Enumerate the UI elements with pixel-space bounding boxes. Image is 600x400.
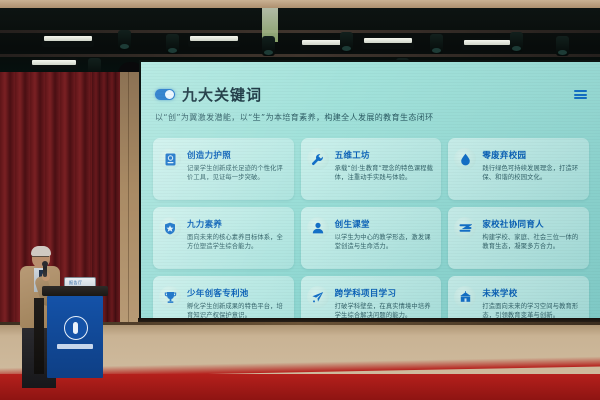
stage-light	[462, 38, 512, 50]
keyword-card[interactable]: 创造力护照 记录学生创新成长足迹的个性化评价工具，见证每一步突破。	[153, 138, 294, 200]
card-heading: 创生课堂	[335, 220, 370, 230]
podium: 报告厅	[42, 286, 108, 378]
card-description: 面向未来的核心素养目标体系，全方位塑造学生综合能力。	[187, 234, 287, 252]
university-emblem	[64, 316, 88, 340]
card-description: 践行绿色可持续发展理念，打造环保、和谐的校园文化。	[482, 165, 582, 183]
stage-light	[42, 34, 94, 47]
user-person-icon	[307, 217, 329, 239]
keyword-card[interactable]: 未来学校 打造面向未来的学习空间与教育形态，引领教育变革与创新。	[448, 276, 589, 320]
spotlight	[430, 34, 443, 54]
keyword-card[interactable]: 五维工坊 承载“创·生教育”理念的特色课程载体，注重动手实践与体验。	[301, 138, 442, 200]
card-heading: 少年创客专利池	[187, 289, 249, 299]
slide-subtitle: 以“创”为翼激发潜能，以“生”为本培育素养，构建全人发展的教育生态闭环	[155, 112, 586, 123]
card-description: 记录学生创新成长足迹的个性化评价工具，见证每一步突破。	[187, 165, 287, 183]
hamburger-menu-icon[interactable]	[574, 90, 587, 99]
spotlight	[510, 32, 523, 52]
keyword-card[interactable]: 创生课堂 以学生为中心的教学形态，激发课堂创造与生命活力。	[301, 207, 442, 269]
keyword-card[interactable]: 跨学科项目学习 打破学科壁垒，在真实情境中培养学生综合解决问题的能力。	[301, 276, 442, 320]
connection-link-icon	[454, 217, 476, 239]
stage-light	[188, 34, 240, 47]
shield-star-icon	[159, 217, 181, 239]
slide-header: 九大关键词 以“创”为翼激发潜能，以“生”为本培育素养，构建全人发展的教育生态闭…	[155, 84, 586, 123]
presenter-hair	[31, 246, 51, 256]
rocket-paperplane-icon	[307, 286, 329, 308]
truss-bar	[0, 54, 600, 57]
spotlight	[118, 30, 131, 50]
keyword-card[interactable]: 少年创客专利池 孵化学生创新成果的特色平台，培育知识产权保护意识。	[153, 276, 294, 320]
ceiling-band	[0, 0, 600, 8]
led-screen: 九大关键词 以“创”为翼激发潜能，以“生”为本培育素养，构建全人发展的教育生态闭…	[141, 62, 600, 320]
card-heading: 五维工坊	[335, 151, 370, 161]
podium-side	[34, 298, 44, 374]
card-heading: 九力素养	[187, 220, 222, 230]
card-description: 承载“创·生教育”理念的特色课程载体，注重动手实践与体验。	[335, 165, 435, 183]
podium-banner	[47, 296, 103, 378]
page-title: 九大关键词	[182, 84, 262, 105]
keyword-card[interactable]: 零废弃校园 践行绿色可持续发展理念，打造环保、和谐的校园文化。	[448, 138, 589, 200]
university-name-plate	[57, 344, 93, 349]
card-heading: 零废弃校园	[482, 151, 526, 161]
keyword-card[interactable]: 家校社协同育人 构建学校、家庭、社会三位一体的教育生态，凝聚多方合力。	[448, 207, 589, 269]
auditorium-photo: 九大关键词 以“创”为翼激发潜能，以“生”为本培育素养，构建全人发展的教育生态闭…	[0, 0, 600, 400]
spotlight	[262, 36, 275, 56]
water-drop-icon	[454, 148, 476, 170]
keyword-card-grid: 创造力护照 记录学生创新成长足迹的个性化评价工具，见证每一步突破。 五维工坊 承…	[153, 138, 589, 320]
microphone-icon	[43, 264, 47, 277]
wrench-tool-icon	[307, 148, 329, 170]
stage-light	[30, 58, 78, 69]
podium-top	[42, 286, 108, 296]
school-building-icon	[454, 286, 476, 308]
stage-light	[362, 36, 414, 49]
card-heading: 未来学校	[482, 289, 517, 299]
wall-seam	[128, 72, 129, 330]
trophy-icon	[159, 286, 181, 308]
card-heading: 跨学科项目学习	[335, 289, 397, 299]
toggle-on-icon	[155, 89, 175, 100]
passport-document-icon	[159, 148, 181, 170]
keyword-card[interactable]: 九力素养 面向未来的核心素养目标体系，全方位塑造学生综合能力。	[153, 207, 294, 269]
card-description: 构建学校、家庭、社会三位一体的教育生态，凝聚多方合力。	[482, 234, 582, 252]
card-heading: 创造力护照	[187, 151, 231, 161]
spotlight	[166, 34, 179, 54]
presenter-glasses	[32, 256, 49, 260]
spotlight	[340, 32, 353, 52]
card-description: 以学生为中心的教学形态，激发课堂创造与生命活力。	[335, 234, 435, 252]
spotlight	[556, 36, 569, 56]
card-heading: 家校社协同育人	[482, 220, 544, 230]
